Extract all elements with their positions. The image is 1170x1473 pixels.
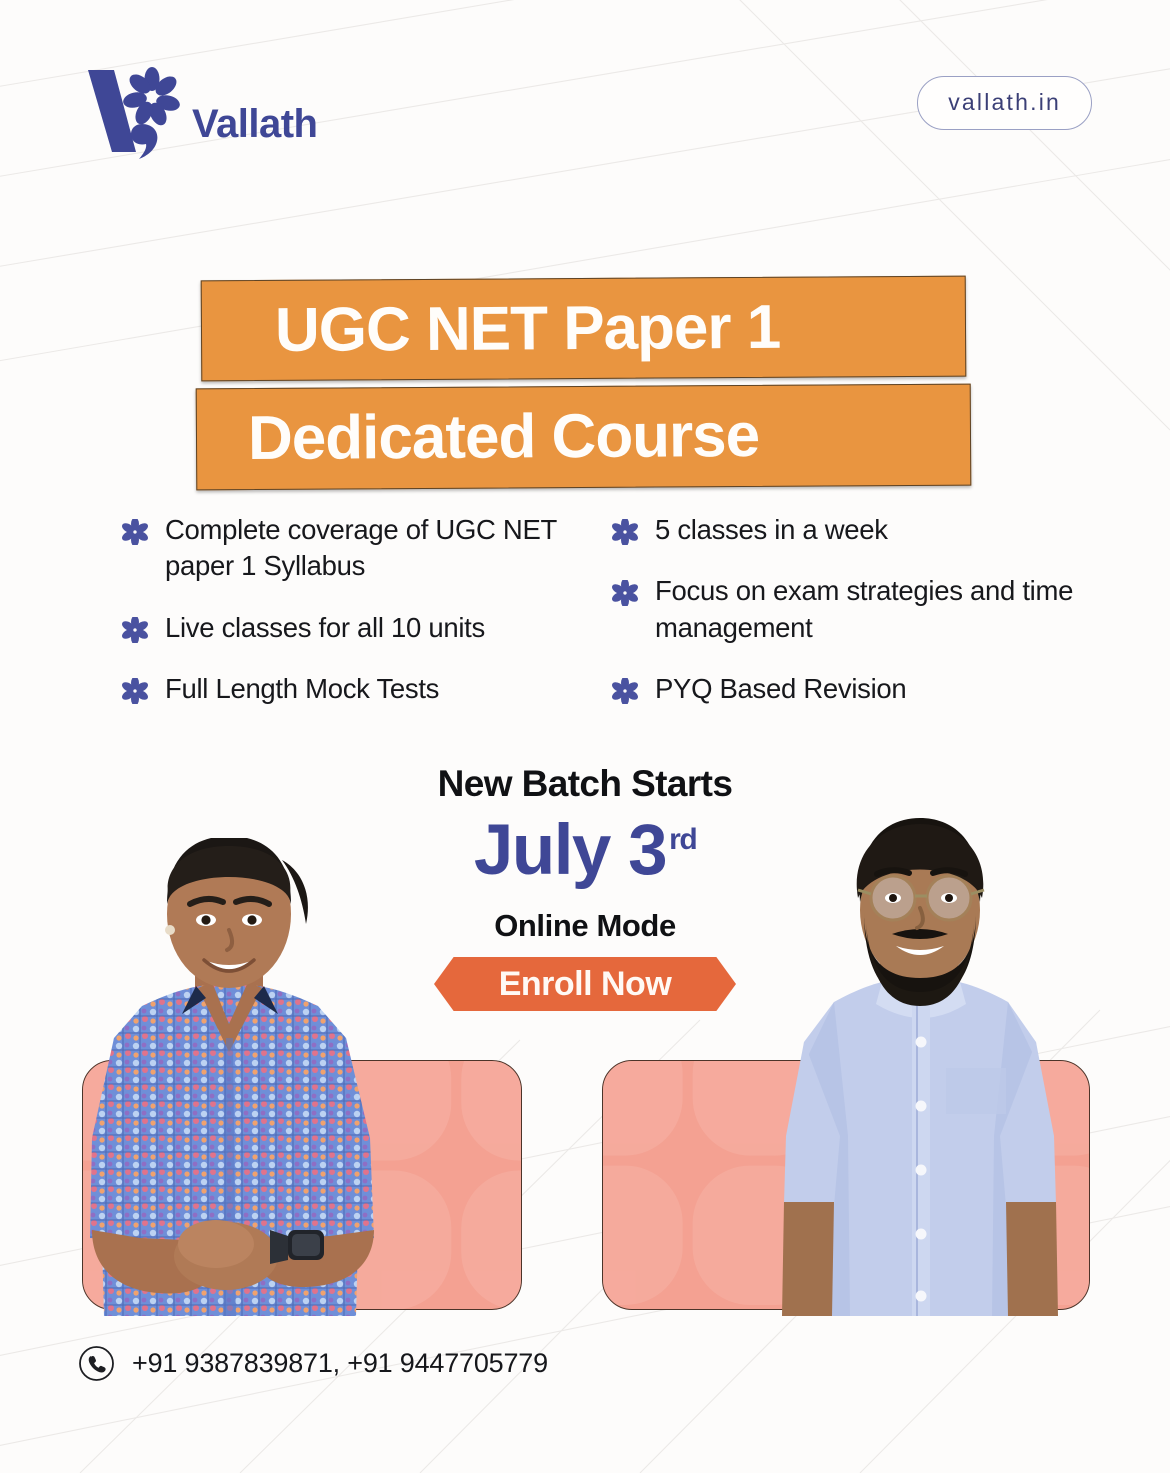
cta-mode: Online Mode <box>0 910 1170 941</box>
flower-bullet-icon <box>122 519 148 545</box>
feature-column-left: Complete coverage of UGC NET paper 1 Syl… <box>122 512 592 732</box>
footer-contact: +91 9387839871, +91 9447705779 <box>78 1345 548 1382</box>
flower-bullet-icon <box>122 678 148 704</box>
title-line1-text: UGC NET Paper 1 <box>275 296 781 361</box>
cta-heading: New Batch Starts <box>0 765 1170 802</box>
enroll-now-button[interactable]: Enroll Now <box>434 957 736 1011</box>
website-badge[interactable]: vallath.in <box>917 76 1092 130</box>
title-banner-line2: Dedicated Course <box>196 384 972 491</box>
feature-item: Live classes for all 10 units <box>122 610 592 646</box>
feature-item: Focus on exam strategies and time manage… <box>612 573 1082 646</box>
brand-logo[interactable]: Vallath <box>78 62 317 160</box>
feature-text: Live classes for all 10 units <box>165 610 485 646</box>
enroll-now-label: Enroll Now <box>499 967 672 1001</box>
feature-item: 5 classes in a week <box>612 512 1082 548</box>
feature-item: Complete coverage of UGC NET paper 1 Syl… <box>122 512 592 585</box>
feature-text: 5 classes in a week <box>655 512 888 548</box>
brand-name: Vallath <box>192 104 317 144</box>
cta-block: New Batch Starts July 3rd Online Mode En… <box>0 765 1170 1011</box>
feature-item: PYQ Based Revision <box>612 671 1082 707</box>
feature-text: Focus on exam strategies and time manage… <box>655 573 1082 646</box>
flower-comma-logo-icon <box>78 62 186 160</box>
cta-date: July 3rd <box>0 815 1170 886</box>
flower-bullet-icon <box>612 580 638 606</box>
flower-bullet-icon <box>612 519 638 545</box>
flower-bullet-icon <box>612 678 638 704</box>
header: Vallath vallath.in <box>0 62 1170 162</box>
enroll-button-wrapper: Enroll Now <box>0 957 1170 1011</box>
feature-column-right: 5 classes in a week Focus on exam strate… <box>612 512 1082 732</box>
feature-item: Full Length Mock Tests <box>122 671 592 707</box>
phone-numbers: +91 9387839871, +91 9447705779 <box>132 1348 548 1379</box>
feature-text: Complete coverage of UGC NET paper 1 Syl… <box>165 512 592 585</box>
title-banner-line1: UGC NET Paper 1 <box>201 276 967 382</box>
feature-text: PYQ Based Revision <box>655 671 906 707</box>
flower-bullet-icon <box>122 617 148 643</box>
feature-text: Full Length Mock Tests <box>165 671 439 707</box>
cta-date-main: July 3 <box>474 811 666 890</box>
cta-date-suffix: rd <box>669 823 696 856</box>
phone-circle-icon <box>78 1345 115 1382</box>
title-line2-text: Dedicated Course <box>248 405 760 470</box>
